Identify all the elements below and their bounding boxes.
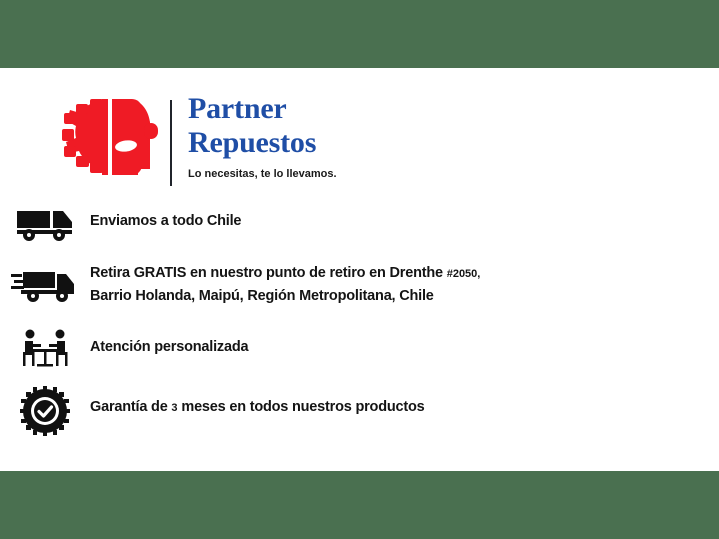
pickup-text-part-two: Barrio Holanda, Maipú, Región Metropolit… (90, 288, 434, 304)
pickup-text-part-one: Retira GRATIS en nuestro punto de retiro… (90, 265, 447, 281)
feature-row-pickup: Retira GRATIS en nuestro punto de retiro… (0, 262, 719, 328)
brand-tagline: Lo necesitas, te lo llevamos. (188, 168, 588, 181)
brand-line-one: Partner (188, 94, 588, 124)
brand-header: Partner Repuestos Lo necesitas, te lo ll… (0, 68, 719, 200)
feature-list: Enviamos a todo Chile Retira GRA (0, 206, 719, 444)
feature-text-shipping: Enviamos a todo Chile (90, 206, 241, 232)
delivery-truck-icon (0, 206, 90, 242)
feature-text-pickup: Retira GRATIS en nuestro punto de retiro… (90, 262, 480, 307)
gear-car-logo-icon (62, 95, 160, 179)
feature-row-attention: Atención personalizada (0, 328, 719, 386)
promo-banner: Partner Repuestos Lo necesitas, te lo ll… (0, 0, 719, 539)
moving-truck-icon (0, 262, 90, 304)
logo-divider (170, 100, 172, 186)
people-at-table-icon (0, 328, 90, 370)
bottom-green-band (0, 471, 719, 539)
brand-line-two: Repuestos (188, 128, 588, 158)
warranty-text-part-one: Garantía de (90, 399, 171, 415)
top-green-band (0, 0, 719, 68)
feature-text-attention: Atención personalizada (90, 328, 248, 358)
feature-row-warranty: Garantía de 3 meses en todos nuestros pr… (0, 386, 719, 444)
pickup-address-number: #2050, (447, 268, 481, 280)
guarantee-badge-check-icon (0, 386, 90, 436)
feature-row-shipping: Enviamos a todo Chile (0, 206, 719, 262)
warranty-text-part-two: meses en todos nuestros productos (178, 399, 425, 415)
feature-text-warranty: Garantía de 3 meses en todos nuestros pr… (90, 386, 425, 419)
brand-text: Partner Repuestos Lo necesitas, te lo ll… (188, 94, 588, 181)
